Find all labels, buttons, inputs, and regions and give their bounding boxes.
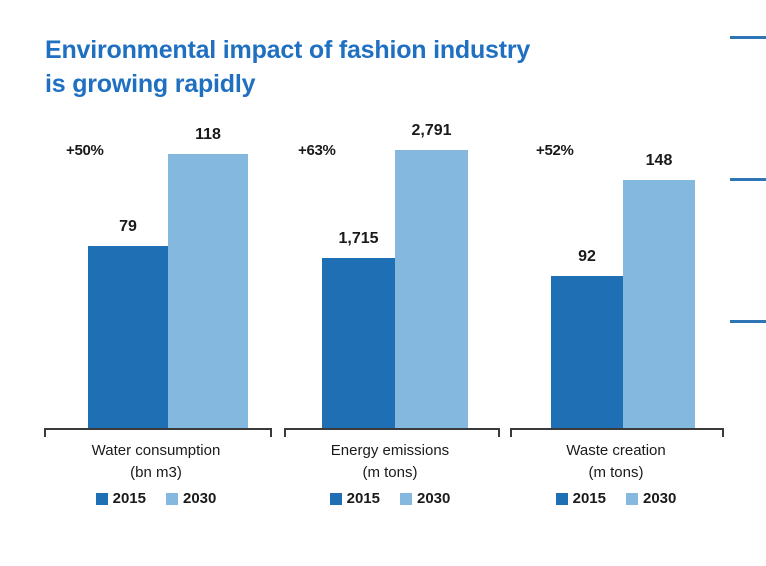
legend-item-2015[interactable]: 2015 [330, 490, 380, 507]
chart-group-energy-emissions: 1,715 2,791 +63% Energy emissions (m ton… [280, 118, 500, 518]
legend-swatch-2030-icon [400, 493, 412, 505]
value-label-2015-water-consumption: 79 [88, 218, 168, 236]
plot-area-energy-emissions: 1,715 2,791 +63% [280, 118, 500, 428]
chart-group-waste-creation: 92 148 +52% Waste creation (m tons) 2015… [508, 118, 724, 518]
category-label-waste-creation: Waste creation (m tons) [508, 440, 724, 484]
legend-energy-emissions: 2015 2030 [280, 490, 500, 507]
legend-item-2030[interactable]: 2030 [400, 490, 450, 507]
category-bracket-waste-creation [510, 428, 724, 437]
category-bracket-water-consumption [44, 428, 272, 437]
value-label-2030-water-consumption: 118 [168, 126, 248, 144]
legend-swatch-2015-icon [330, 493, 342, 505]
bars-water-consumption [40, 118, 272, 428]
category-bracket-energy-emissions [284, 428, 500, 437]
growth-label-water-consumption: +50% [66, 142, 104, 159]
category-label-line-2: (m tons) [508, 462, 724, 484]
bar-2030-waste-creation[interactable] [623, 180, 695, 428]
growth-label-energy-emissions: +63% [298, 142, 336, 159]
side-divider-1 [730, 36, 766, 39]
value-label-2015-energy-emissions: 1,715 [314, 230, 403, 248]
category-label-line-1: Water consumption [92, 442, 221, 459]
legend-item-2015[interactable]: 2015 [96, 490, 146, 507]
cropped-side-panel [726, 0, 766, 566]
legend-label-2015: 2015 [113, 490, 146, 507]
legend-swatch-2015-icon [556, 493, 568, 505]
bars-energy-emissions [280, 118, 500, 428]
category-label-energy-emissions: Energy emissions (m tons) [280, 440, 500, 484]
bar-2015-waste-creation[interactable] [551, 276, 623, 428]
category-label-line-1: Waste creation [566, 442, 666, 459]
chart-group-water-consumption: 79 118 +50% Water consumption (bn m3) 20… [40, 118, 272, 518]
side-divider-2 [730, 178, 766, 181]
legend-swatch-2030-icon [626, 493, 638, 505]
category-label-water-consumption: Water consumption (bn m3) [40, 440, 272, 484]
bar-2030-energy-emissions[interactable] [395, 150, 468, 428]
legend-water-consumption: 2015 2030 [40, 490, 272, 507]
bar-2015-energy-emissions[interactable] [322, 258, 395, 428]
value-label-2030-waste-creation: 148 [623, 152, 695, 170]
legend-swatch-2030-icon [166, 493, 178, 505]
category-label-line-2: (bn m3) [40, 462, 272, 484]
category-label-line-1: Energy emissions [331, 442, 449, 459]
bar-chart: 79 118 +50% Water consumption (bn m3) 20… [0, 0, 766, 566]
bar-2030-water-consumption[interactable] [168, 154, 248, 428]
value-label-2030-energy-emissions: 2,791 [387, 122, 476, 140]
legend-label-2030: 2030 [643, 490, 676, 507]
legend-item-2015[interactable]: 2015 [556, 490, 606, 507]
legend-label-2015: 2015 [347, 490, 380, 507]
plot-area-waste-creation: 92 148 +52% [508, 118, 724, 428]
bar-2015-water-consumption[interactable] [88, 246, 168, 428]
legend-waste-creation: 2015 2030 [508, 490, 724, 507]
legend-item-2030[interactable]: 2030 [166, 490, 216, 507]
legend-item-2030[interactable]: 2030 [626, 490, 676, 507]
legend-label-2030: 2030 [417, 490, 450, 507]
legend-label-2015: 2015 [573, 490, 606, 507]
value-label-2015-waste-creation: 92 [551, 248, 623, 266]
growth-label-waste-creation: +52% [536, 142, 574, 159]
plot-area-water-consumption: 79 118 +50% [40, 118, 272, 428]
legend-label-2030: 2030 [183, 490, 216, 507]
legend-swatch-2015-icon [96, 493, 108, 505]
side-divider-3 [730, 320, 766, 323]
category-label-line-2: (m tons) [280, 462, 500, 484]
slide-canvas: Environmental impact of fashion industry… [0, 0, 766, 566]
